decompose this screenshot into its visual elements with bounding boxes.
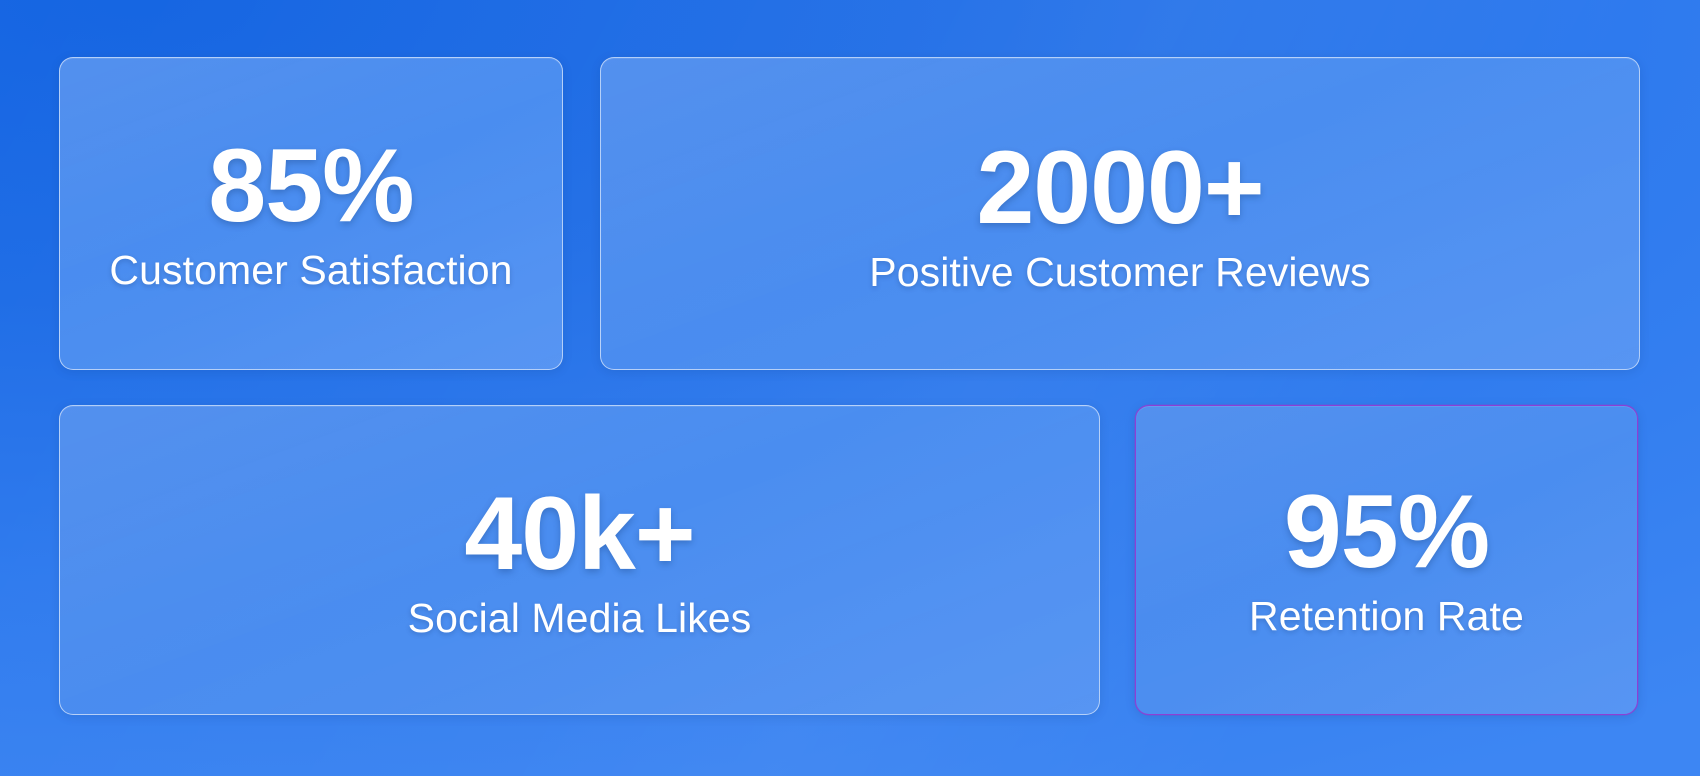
stat-card-social-likes[interactable]: 40k+ Social Media Likes — [59, 405, 1100, 715]
stat-card-customer-satisfaction[interactable]: 85% Customer Satisfaction — [59, 57, 563, 370]
stat-label-social-likes: Social Media Likes — [408, 596, 752, 642]
stat-card-retention-rate[interactable]: 95% Retention Rate — [1135, 405, 1638, 715]
stats-grid-page: 85% Customer Satisfaction 2000+ Positive… — [0, 0, 1700, 776]
stat-content: 40k+ Social Media Likes — [408, 482, 752, 642]
stat-content: 2000+ Positive Customer Reviews — [869, 136, 1371, 296]
stat-content: 85% Customer Satisfaction — [109, 134, 512, 294]
stat-label-customer-satisfaction: Customer Satisfaction — [109, 248, 512, 294]
stat-content: 95% Retention Rate — [1249, 480, 1524, 640]
stat-value-retention-rate: 95% — [1284, 480, 1489, 584]
stat-value-positive-reviews: 2000+ — [976, 136, 1263, 240]
stat-label-positive-reviews: Positive Customer Reviews — [869, 250, 1371, 296]
stat-value-social-likes: 40k+ — [464, 482, 694, 586]
stat-value-customer-satisfaction: 85% — [208, 134, 413, 238]
stat-card-positive-reviews[interactable]: 2000+ Positive Customer Reviews — [600, 57, 1640, 370]
stat-label-retention-rate: Retention Rate — [1249, 594, 1524, 640]
